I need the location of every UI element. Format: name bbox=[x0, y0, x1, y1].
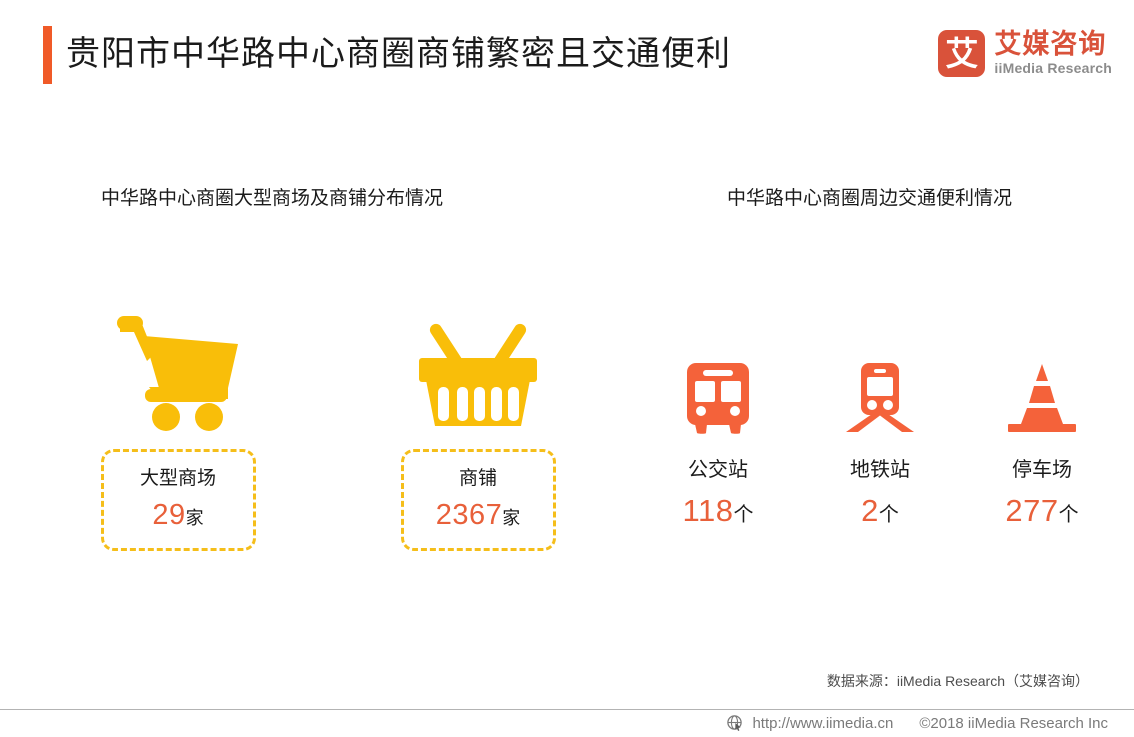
transport-stat-unit: 个 bbox=[733, 504, 753, 526]
transport-stat-number: 118 bbox=[683, 493, 734, 528]
globe-cursor-icon bbox=[727, 715, 744, 732]
header: 贵阳市中华路中心商圈商铺繁密且交通便利 艾 艾媒咨询 iiMedia Resea… bbox=[0, 0, 1134, 110]
shopping-basket-icon bbox=[417, 314, 539, 432]
title-accent-bar bbox=[43, 26, 52, 84]
retail-stat-box-shop: 商铺 2367家 bbox=[401, 449, 556, 551]
transport-stats-group: 公交站 118个 地铁站 bbox=[640, 350, 1100, 565]
data-source-note: 数据来源：iiMedia Research（艾媒咨询） bbox=[827, 671, 1089, 691]
retail-stats-group: 大型商场 29家 bbox=[60, 305, 580, 580]
transport-stat-label: 停车场 bbox=[967, 457, 1117, 483]
logo-mark-char: 艾 bbox=[945, 37, 978, 70]
shopping-cart-icon bbox=[116, 314, 241, 432]
retail-stat-value: 2367家 bbox=[436, 501, 521, 533]
footer-website-url[interactable]: http://www.iimedia.cn bbox=[752, 714, 893, 734]
retail-stat-shop: 商铺 2367家 bbox=[378, 305, 578, 551]
subway-train-icon-wrap bbox=[805, 350, 955, 434]
retail-stat-label: 商铺 bbox=[459, 467, 497, 491]
transport-stat-value: 2个 bbox=[805, 493, 955, 533]
transport-stat-unit: 个 bbox=[879, 504, 899, 526]
logo-mark-icon: 艾 bbox=[938, 30, 985, 77]
retail-stat-mall: 大型商场 29家 bbox=[78, 305, 278, 551]
footer-bar: http://www.iimedia.cn ©2018 iiMedia Rese… bbox=[0, 709, 1134, 737]
transport-stat-value: 118个 bbox=[643, 493, 793, 533]
brand-logo: 艾 艾媒咨询 iiMedia Research bbox=[938, 26, 1112, 80]
retail-stat-unit: 家 bbox=[186, 508, 204, 528]
shopping-cart-icon-wrap bbox=[78, 305, 278, 440]
logo-name-en: iiMedia Research bbox=[994, 60, 1112, 77]
traffic-cone-icon-wrap bbox=[967, 350, 1117, 434]
logo-name-cn: 艾媒咨询 bbox=[994, 30, 1112, 59]
transport-stat-unit: 个 bbox=[1059, 504, 1079, 526]
logo-text: 艾媒咨询 iiMedia Research bbox=[994, 30, 1112, 77]
retail-stat-label: 大型商场 bbox=[140, 467, 216, 491]
shopping-basket-icon-wrap bbox=[378, 305, 578, 440]
page-title: 贵阳市中华路中心商圈商铺繁密且交通便利 bbox=[66, 27, 731, 81]
transport-stat-value: 277个 bbox=[967, 493, 1117, 533]
section-heading-transport: 中华路中心商圈周边交通便利情况 bbox=[727, 186, 1012, 212]
subway-train-icon bbox=[844, 362, 916, 434]
transport-stat-number: 277 bbox=[1005, 493, 1058, 528]
bus-icon-wrap bbox=[643, 350, 793, 434]
retail-stat-box-mall: 大型商场 29家 bbox=[101, 449, 256, 551]
bus-icon bbox=[686, 362, 750, 434]
transport-stat-subway: 地铁站 2个 bbox=[805, 350, 955, 533]
retail-stat-number: 2367 bbox=[436, 499, 503, 531]
retail-stat-value: 29家 bbox=[152, 501, 203, 533]
retail-stat-unit: 家 bbox=[502, 508, 520, 528]
transport-stat-label: 地铁站 bbox=[805, 457, 955, 483]
transport-stat-bus: 公交站 118个 bbox=[643, 350, 793, 533]
traffic-cone-icon bbox=[1004, 362, 1080, 434]
footer-copyright: ©2018 iiMedia Research Inc bbox=[919, 714, 1108, 734]
section-heading-retail: 中华路中心商圈大型商场及商铺分布情况 bbox=[101, 186, 443, 212]
retail-stat-number: 29 bbox=[152, 499, 185, 531]
transport-stat-parking: 停车场 277个 bbox=[967, 350, 1117, 533]
transport-stat-number: 2 bbox=[861, 493, 879, 528]
transport-stat-label: 公交站 bbox=[643, 457, 793, 483]
